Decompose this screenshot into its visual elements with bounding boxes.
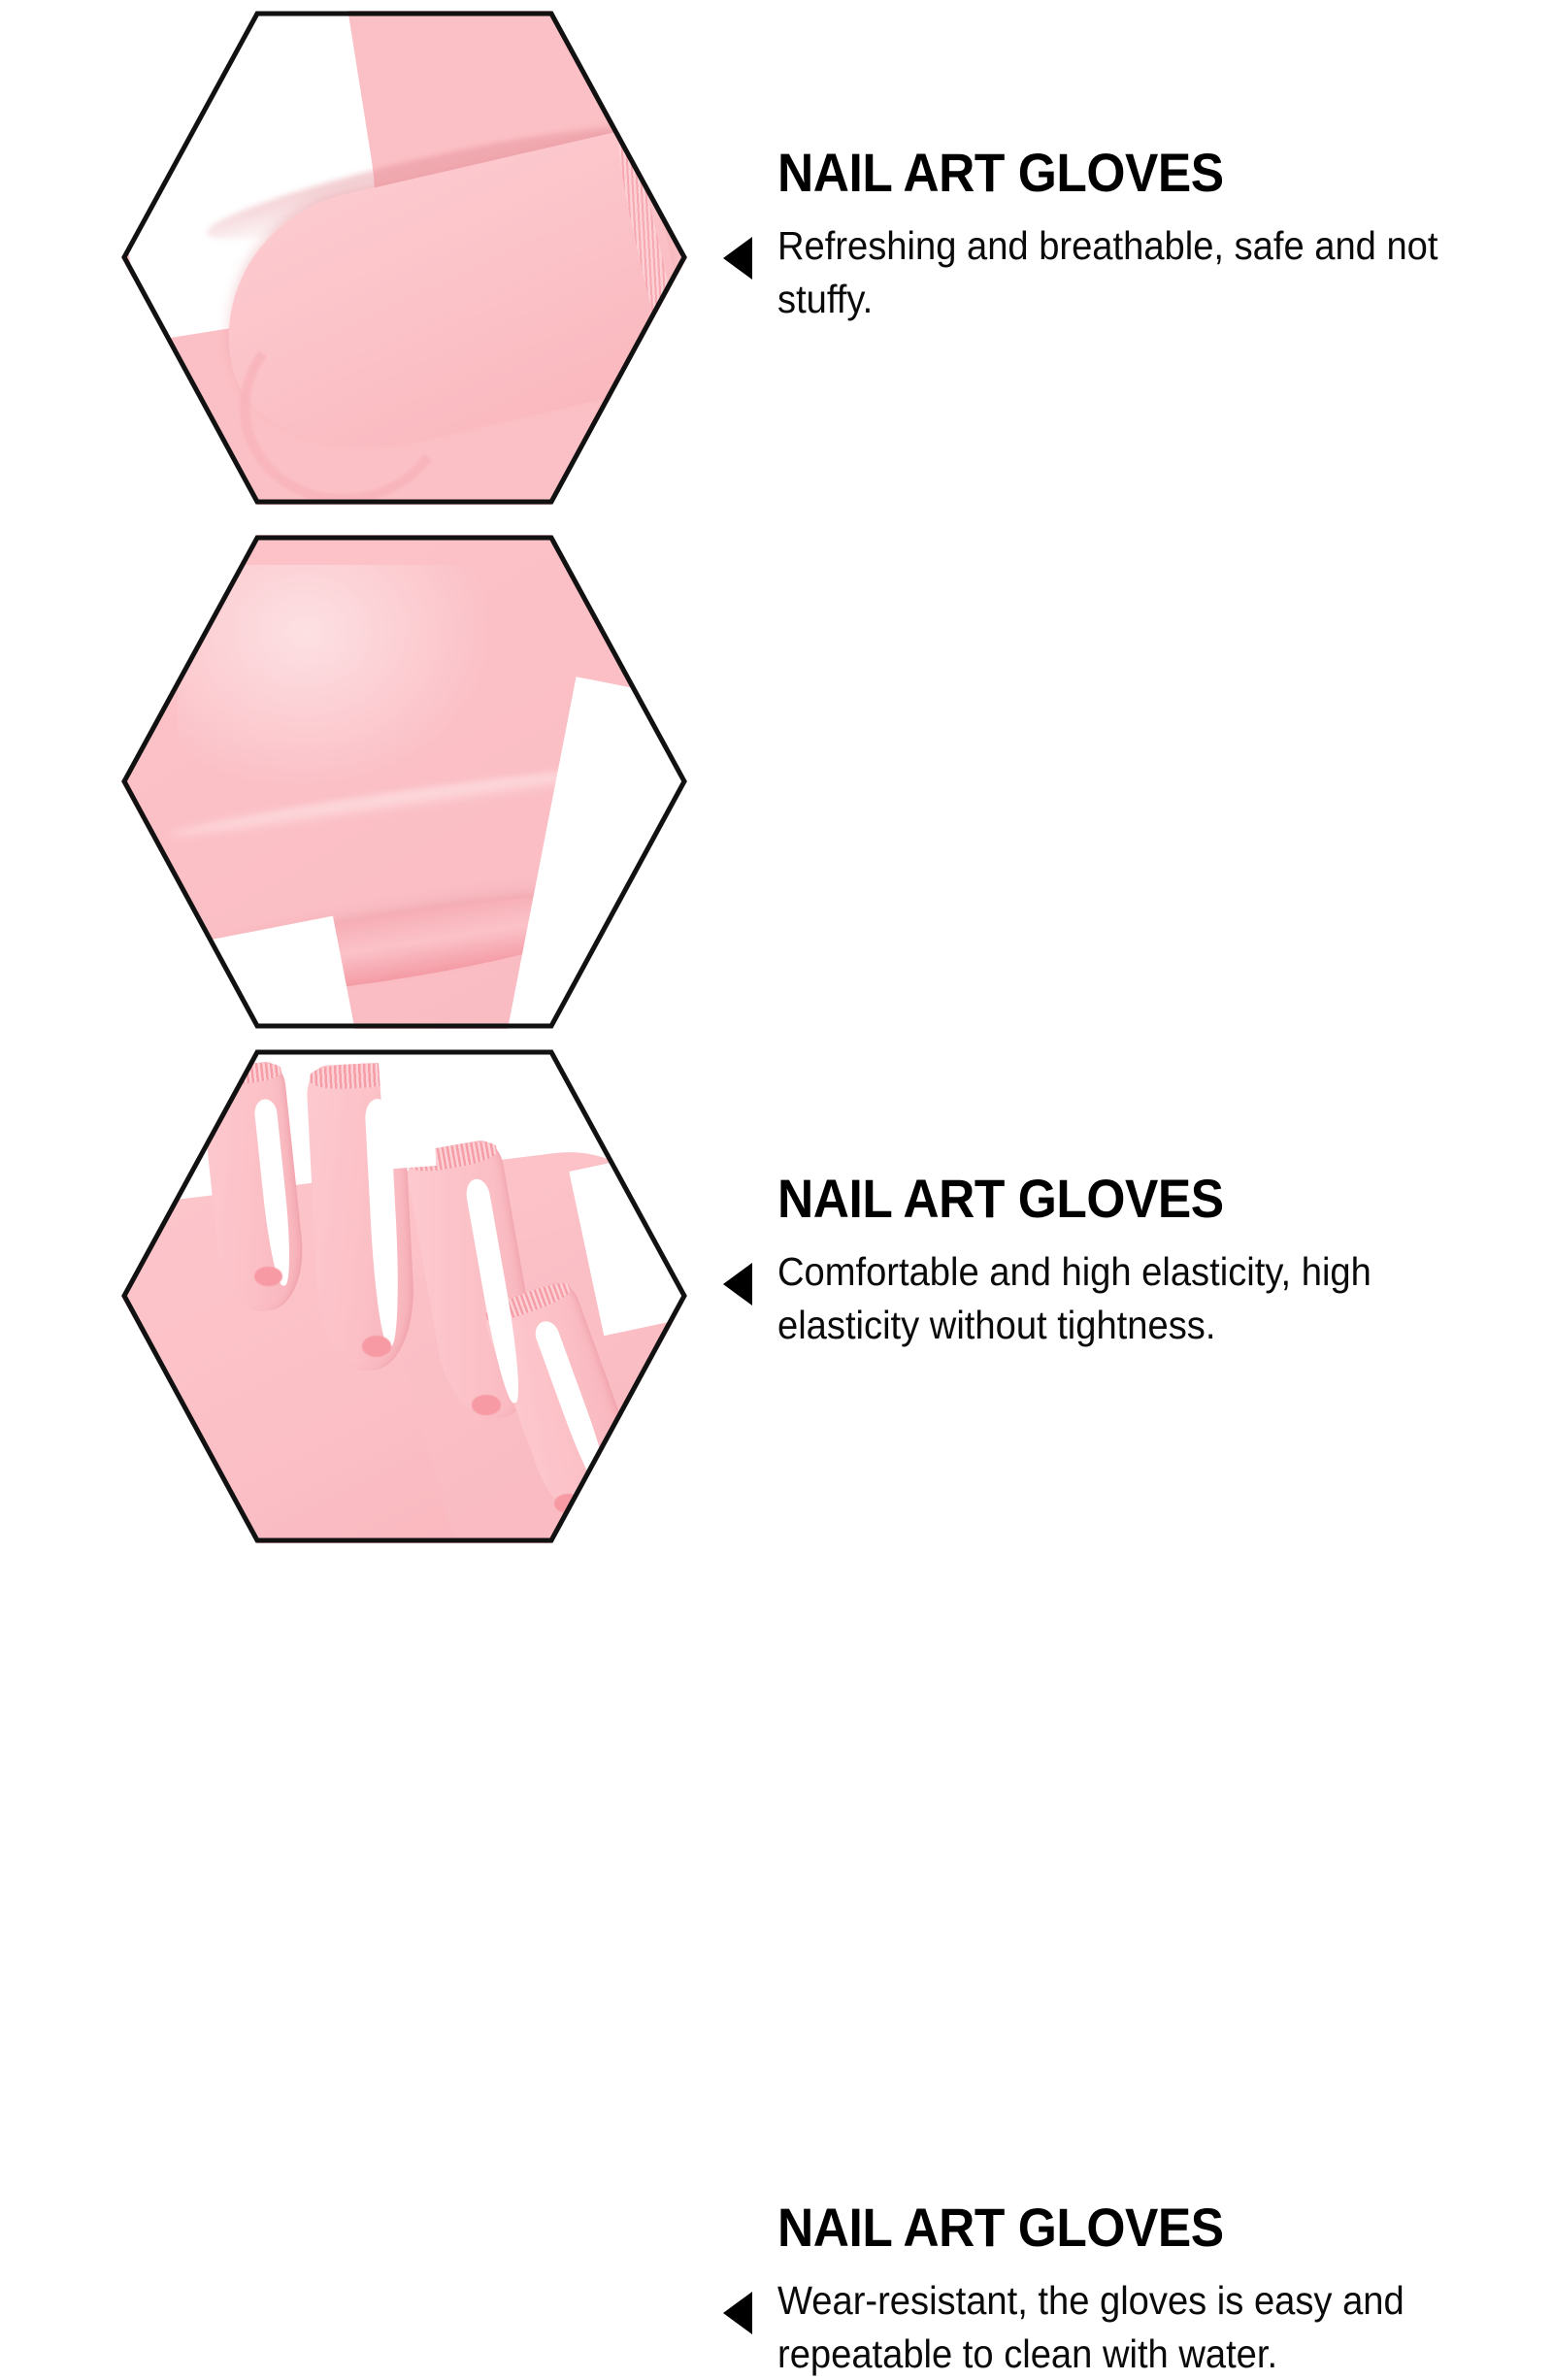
feature-body-row-1: Refreshing and breathable, safe and not … [713, 219, 1538, 325]
feature-headline-1: NAIL ART GLOVES [777, 146, 1477, 200]
finger-tip-stitch [362, 1336, 391, 1356]
finger-tip-stitch [554, 1494, 582, 1513]
hexagon-photo-frame-1 [121, 11, 687, 505]
photo-white-gap-top [378, 1049, 438, 1170]
photo-canvas [121, 11, 687, 505]
fingerless-gloves-photo [121, 1049, 687, 1543]
feature-block-elastic: NAIL ART GLOVES Comfortable and high ela… [0, 516, 1553, 1031]
feature-text-3: NAIL ART GLOVES Wear-resistant, the glov… [713, 2200, 1538, 2380]
left-triangle-icon [723, 237, 752, 280]
finger-tip-stitch [472, 1395, 500, 1414]
feature-body-row-3: Wear-resistant, the gloves is easy and r… [713, 2274, 1538, 2380]
feature-block-refreshing: NAIL ART GLOVES Refreshing and breathabl… [0, 0, 1553, 516]
hexagon-photo-frame-3 [121, 1049, 687, 1543]
feature-text-1: NAIL ART GLOVES Refreshing and breathabl… [713, 146, 1538, 325]
feature-description-1: Refreshing and breathable, safe and not … [777, 219, 1485, 325]
feature-headline-3: NAIL ART GLOVES [777, 2200, 1477, 2255]
feature-block-wear-resistant: NAIL ART GLOVES Wear-resistant, the glov… [0, 1031, 1553, 1553]
photo-white-corner-bottom-left [121, 916, 357, 1029]
left-triangle-icon [723, 2292, 752, 2334]
feature-description-3: Wear-resistant, the gloves is easy and r… [777, 2274, 1485, 2380]
folded-glove-cloth-photo [121, 11, 687, 505]
infographic-page: NAIL ART GLOVES Refreshing and breathabl… [0, 0, 1553, 1553]
hexagon-photo-frame-2 [121, 535, 687, 1029]
stretch-fabric-photo [121, 535, 687, 1029]
fabric-highlight [178, 565, 494, 792]
photo-canvas [121, 535, 687, 1029]
photo-canvas [121, 1049, 687, 1543]
